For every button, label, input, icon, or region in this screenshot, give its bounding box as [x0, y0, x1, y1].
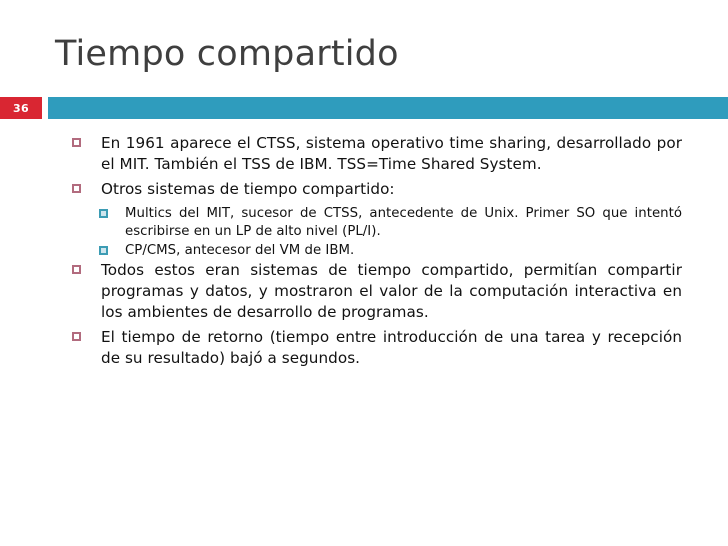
header-divider: 36 — [0, 97, 728, 119]
bullet-text: Multics del MIT, sucesor de CTSS, antece… — [125, 205, 682, 241]
list-item: Otros sistemas de tiempo compartido: — [0, 179, 728, 200]
square-bullet-icon — [72, 184, 81, 193]
square-bullet-icon — [99, 246, 108, 255]
square-bullet-icon — [72, 265, 81, 274]
page-title: Tiempo compartido — [55, 34, 399, 75]
list-item: Todos estos eran sistemas de tiempo comp… — [0, 260, 728, 322]
list-item: Multics del MIT, sucesor de CTSS, antece… — [0, 205, 728, 241]
bullet-text: El tiempo de retorno (tiempo entre intro… — [101, 327, 682, 368]
square-bullet-icon — [99, 209, 108, 218]
bullet-text: CP/CMS, antecesor del VM de IBM. — [125, 242, 682, 260]
slide-body: En 1961 aparece el CTSS, sistema operati… — [0, 133, 728, 374]
bullet-text: Todos estos eran sistemas de tiempo comp… — [101, 260, 682, 322]
slide-canvas: Tiempo compartido 36 En 1961 aparece el … — [0, 0, 728, 546]
list-item: CP/CMS, antecesor del VM de IBM. — [0, 242, 728, 260]
square-bullet-icon — [72, 332, 81, 341]
bullet-list: En 1961 aparece el CTSS, sistema operati… — [0, 133, 728, 369]
list-item: En 1961 aparece el CTSS, sistema operati… — [0, 133, 728, 174]
title-area: Tiempo compartido — [0, 34, 728, 92]
slide-number-badge: 36 — [0, 97, 42, 119]
bullet-text: Otros sistemas de tiempo compartido: — [101, 179, 682, 200]
square-bullet-icon — [72, 138, 81, 147]
list-item: El tiempo de retorno (tiempo entre intro… — [0, 327, 728, 368]
bullet-text: En 1961 aparece el CTSS, sistema operati… — [101, 133, 682, 174]
divider-bar — [48, 97, 728, 119]
